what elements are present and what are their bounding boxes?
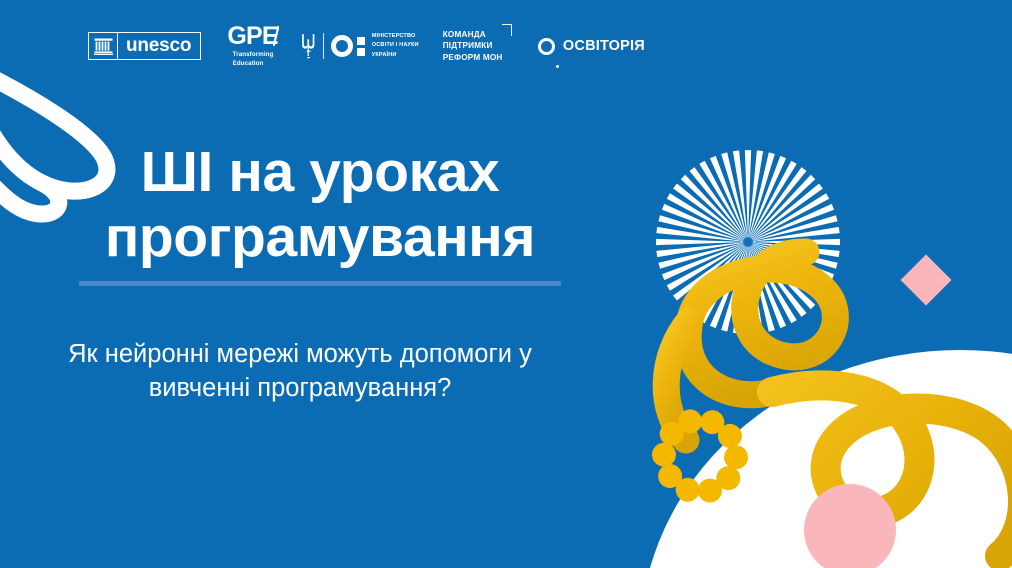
mon-ring-icon <box>331 35 353 57</box>
gpe-tagline-line-1: Transforming <box>233 51 274 59</box>
logo-mon: МІНІСТЕРСТВО ОСВІТИ І НАУКИ УКРАЇНИ <box>301 29 419 63</box>
partner-logo-bar: unesco GPE Transforming Education <box>0 24 1012 68</box>
logo-osvitoria: ОСВІТОРІЯ <box>538 24 645 68</box>
sunburst-shape <box>656 150 840 334</box>
mon-wordmark-line-3: УКРАЇНИ <box>372 51 419 60</box>
headline-block: ШІ на уроках програмування <box>0 140 640 286</box>
page-title-line-2: програмування <box>105 205 535 269</box>
komanda-wordmark-line-3: РЕФОРМ МОН <box>443 52 503 64</box>
logo-komanda-pidtrymky-reform: КОМАНДА ПІДТРИМКИ РЕФОРМ МОН <box>443 24 512 68</box>
komanda-wordmark-line-1: КОМАНДА <box>443 29 503 41</box>
osvitoria-ring-icon <box>538 38 555 55</box>
gpe-wordmark-text: GPE <box>227 25 277 48</box>
gpe-tagline-line-2: Education <box>233 60 274 68</box>
yellow-ribbon-shape <box>666 252 1012 556</box>
logo-gpe: GPE Transforming Education <box>227 24 278 68</box>
mon-wordmark-line-1: МІНІСТЕРСТВО <box>372 32 419 41</box>
yellow-dot-ring-shape <box>652 409 748 502</box>
osvitoria-wordmark: ОСВІТОРІЯ <box>563 39 645 54</box>
mon-wordmark-line-2: ОСВІТИ І НАУКИ <box>372 41 419 50</box>
mon-emblem-icon <box>331 35 365 57</box>
logo-unesco: unesco <box>88 32 201 60</box>
logo-divider <box>323 33 324 59</box>
trident-icon <box>301 33 316 59</box>
osvitoria-dot-icon <box>556 65 559 68</box>
gpe-wordmark: GPE <box>227 24 278 48</box>
unesco-temple-icon <box>89 33 118 59</box>
slide-canvas: unesco GPE Transforming Education <box>0 0 1012 568</box>
gpe-tagline: Transforming Education <box>233 51 274 67</box>
mon-squares-icon <box>357 37 365 56</box>
page-title: ШІ на уроках програмування <box>0 140 640 270</box>
gpe-slash-icon <box>273 24 279 48</box>
page-title-line-1: ШІ на уроках <box>141 140 500 204</box>
greek-temple-icon <box>94 38 113 55</box>
komanda-wordmark: КОМАНДА ПІДТРИМКИ РЕФОРМ МОН <box>443 29 503 64</box>
unesco-wordmark: unesco <box>118 36 200 55</box>
corner-bracket-icon <box>502 24 512 36</box>
komanda-wordmark-line-2: ПІДТРИМКИ <box>443 40 503 52</box>
page-subtitle: Як нейронні мережі можуть допомоги у вив… <box>0 337 600 406</box>
mon-wordmark: МІНІСТЕРСТВО ОСВІТИ І НАУКИ УКРАЇНИ <box>372 32 419 59</box>
pink-diamond-shape <box>901 255 952 306</box>
pink-circle-shape <box>804 484 896 568</box>
white-blob-shape <box>640 350 1012 568</box>
title-underline-rule <box>79 281 561 286</box>
